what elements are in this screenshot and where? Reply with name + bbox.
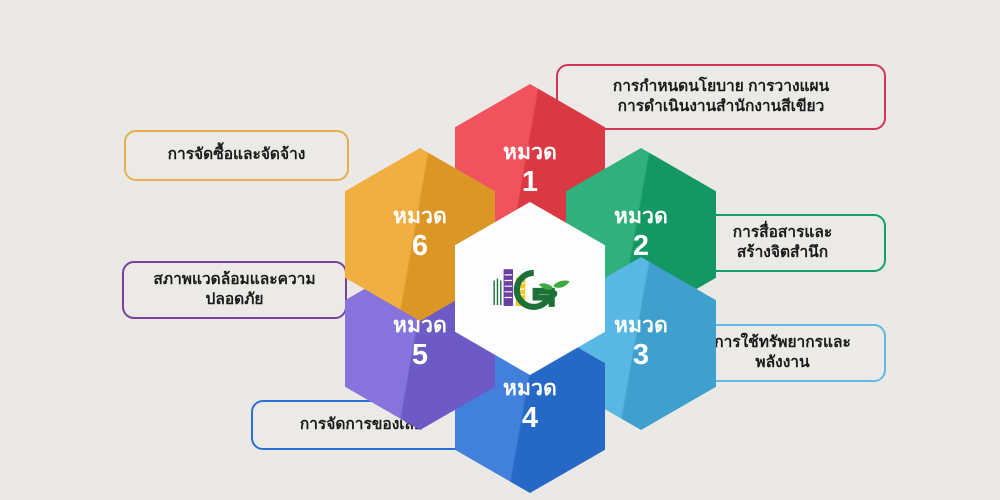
label-line-2: พลังงาน (714, 353, 851, 373)
hexagon-number: 1 (522, 166, 538, 199)
label-line-1: การใช้ทรัพยากรและ (714, 333, 851, 353)
hexagon-number: 6 (412, 230, 428, 263)
hexagon-category-word: หมวด (393, 206, 447, 228)
hexagon-category-word: หมวด (614, 315, 668, 337)
green-office-logo (482, 256, 578, 322)
label-box-category-1[interactable]: การกำหนดนโยบาย การวางแผน การดำเนินงานสำน… (556, 64, 886, 130)
hexagon-category-word: หมวด (614, 206, 668, 228)
hexagon-category-word: หมวด (503, 378, 557, 400)
label-line-2: สร้างจิตสำนึก (733, 243, 833, 263)
label-line-2: การดำเนินงานสำนักงานสีเขียว (613, 97, 829, 117)
label-text-6: การจัดซื้อและจัดจ้าง (168, 145, 306, 165)
label-text-3: การใช้ทรัพยากรและ พลังงาน (714, 333, 851, 374)
label-line-2: ปลอดภัย (153, 290, 315, 310)
label-box-category-6[interactable]: การจัดซื้อและจัดจ้าง (124, 130, 349, 181)
hexagon-category-word: หมวด (503, 142, 557, 164)
logo-hatch-lines (494, 278, 501, 304)
label-line-1: สภาพแวดล้อมและความ (153, 270, 315, 290)
label-text-1: การกำหนดนโยบาย การวางแผน การดำเนินงานสำน… (613, 77, 829, 118)
label-box-category-5[interactable]: สภาพแวดล้อมและความ ปลอดภัย (122, 261, 347, 319)
label-line-1: การสื่อสารและ (733, 223, 833, 243)
label-text-5: สภาพแวดล้อมและความ ปลอดภัย (153, 270, 315, 311)
label-line-1: การกำหนดนโยบาย การวางแผน (613, 77, 829, 97)
hexagon-number: 3 (633, 339, 649, 372)
hexagon-number: 5 (412, 339, 428, 372)
label-line-1: การจัดซื้อและจัดจ้าง (168, 145, 306, 165)
label-text-2: การสื่อสารและ สร้างจิตสำนึก (733, 223, 833, 264)
hexagon-number: 4 (522, 402, 538, 435)
infographic-canvas: การจัดซื้อและจัดจ้าง สภาพแวดล้อมและความ … (0, 0, 1000, 500)
